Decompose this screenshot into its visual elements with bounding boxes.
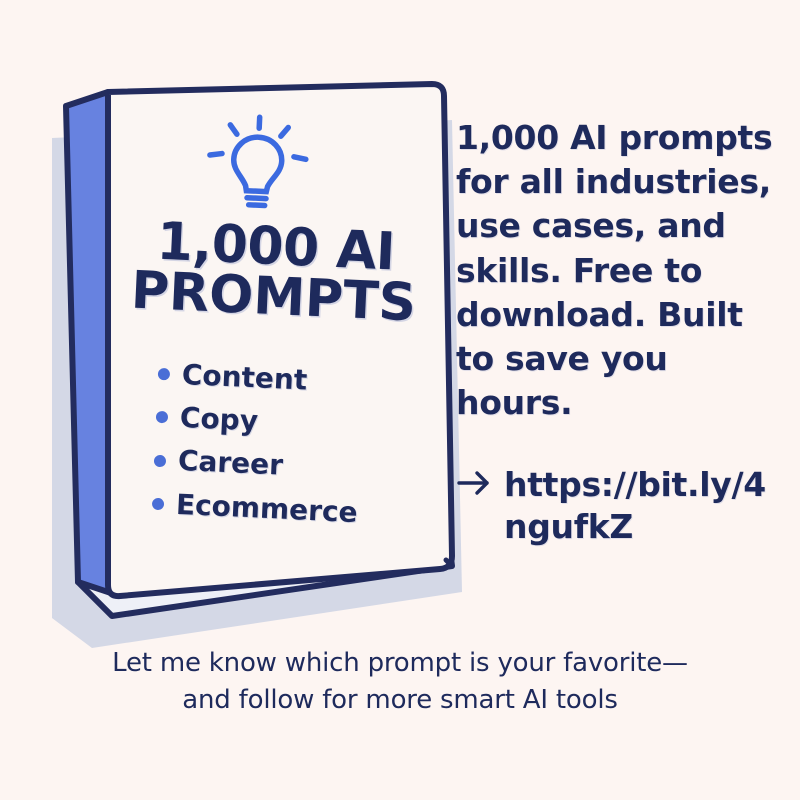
book-front-cover (108, 84, 452, 596)
book-illustration: 1,000 AI PROMPTS Content Copy Ca (0, 0, 520, 680)
caption-line-1: Let me know which prompt is your favorit… (0, 645, 800, 682)
promo-column: 1,000 AI prompts for all industries, use… (456, 116, 786, 548)
poster-canvas: 1,000 AI PROMPTS Content Copy Ca (0, 0, 800, 800)
arrow-right-icon (456, 466, 492, 505)
promo-description: 1,000 AI prompts for all industries, use… (456, 116, 786, 426)
promo-link-row[interactable]: https://bit.ly/4ngufkZ (456, 464, 786, 548)
promo-link-text[interactable]: https://bit.ly/4ngufkZ (504, 464, 786, 548)
footer-caption: Let me know which prompt is your favorit… (0, 645, 800, 719)
caption-line-2: and follow for more smart AI tools (0, 682, 800, 719)
